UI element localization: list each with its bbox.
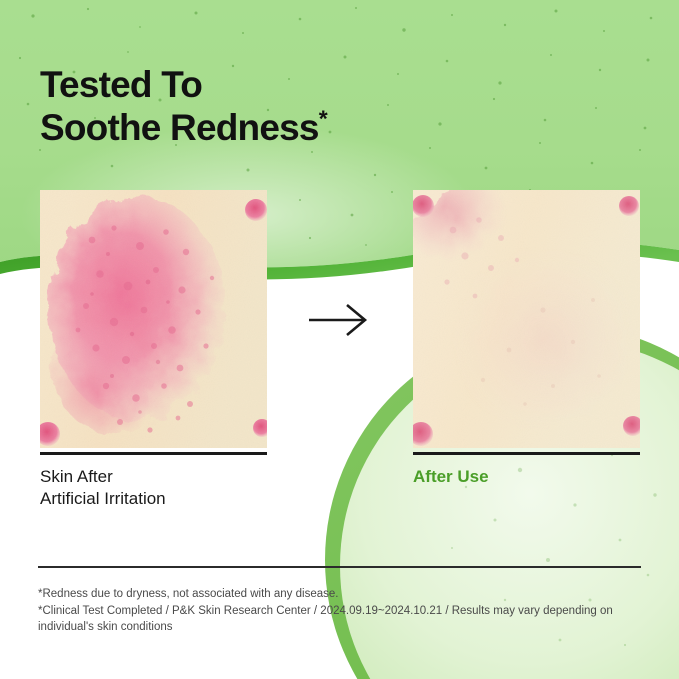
before-caption-line-2: Artificial Irritation: [40, 488, 267, 510]
after-caption: After Use: [413, 452, 640, 488]
arrow-right-icon: [305, 300, 375, 340]
footnote-line-1: *Redness due to dryness, not associated …: [38, 586, 644, 603]
after-caption-rule: [413, 452, 640, 455]
footer-divider: [38, 566, 641, 568]
headline-line-2-text: Soothe Redness: [40, 107, 319, 148]
headline-asterisk: *: [319, 105, 327, 131]
footnote-line-2: *Clinical Test Completed / P&K Skin Rese…: [38, 603, 644, 620]
headline-line-2: Soothe Redness*: [40, 106, 560, 149]
before-caption-rule: [40, 452, 267, 455]
after-photo: [413, 190, 640, 448]
page-title: Tested To Soothe Redness*: [40, 63, 560, 149]
footnotes: *Redness due to dryness, not associated …: [38, 586, 644, 636]
after-caption-label: After Use: [413, 466, 640, 488]
before-caption: Skin After Artificial Irritation: [40, 452, 267, 510]
before-photo: [40, 190, 267, 448]
before-caption-line-1: Skin After: [40, 466, 267, 488]
promo-canvas: Tested To Soothe Redness*: [0, 0, 679, 679]
footnote-line-3: individual's skin conditions: [38, 619, 644, 636]
headline-line-1: Tested To: [40, 63, 560, 106]
